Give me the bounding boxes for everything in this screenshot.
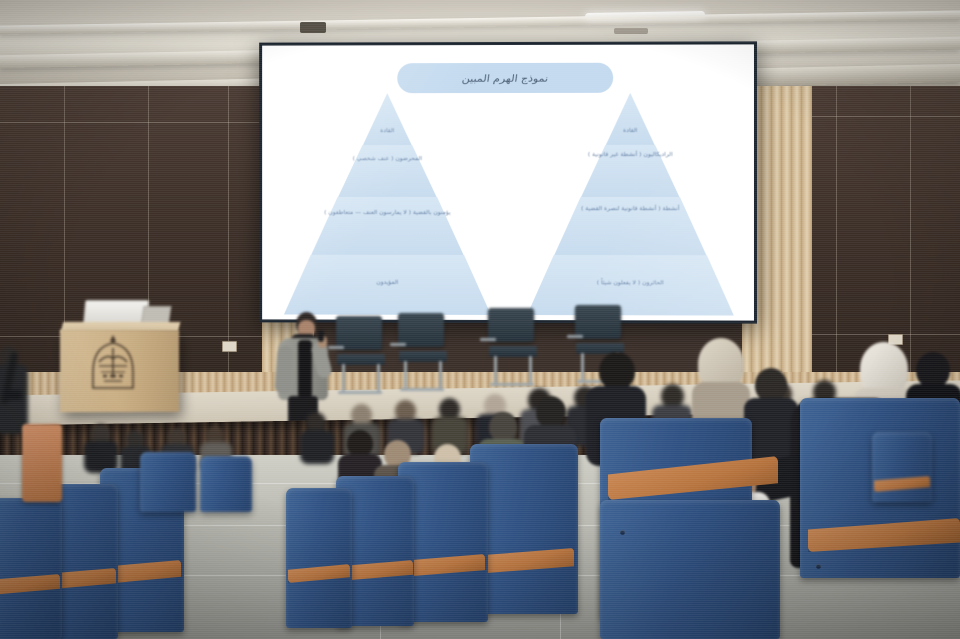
pyramid-tier xyxy=(527,197,734,256)
slide-title-pill: نموذج الهرم المبين xyxy=(397,63,613,93)
pyramid-tier xyxy=(284,145,491,198)
pyramid-tier xyxy=(527,93,734,146)
wall-socket[interactable] xyxy=(222,341,237,352)
pyramid-tier xyxy=(284,197,491,256)
slide-surface: نموذج الهرم المبين القادة المحرضون ( عنف… xyxy=(262,44,754,320)
pyramid-tier xyxy=(284,255,491,315)
pyramid-tier xyxy=(527,145,734,198)
pyramid-tier xyxy=(527,255,734,315)
university-emblem-icon xyxy=(86,332,140,394)
projection-screen: نموذج الهرم المبين القادة المحرضون ( عنف… xyxy=(259,41,757,323)
ceiling-projector-mount xyxy=(300,22,326,33)
wall-dark-panel-right xyxy=(812,86,960,386)
pyramid-tier xyxy=(284,93,491,146)
left-pyramid: القادة المحرضون ( عنف شخصي ) يؤمنون بالق… xyxy=(284,93,491,315)
ceiling-vent xyxy=(614,28,648,34)
slide-title-text: نموذج الهرم المبين xyxy=(461,72,549,84)
right-pyramid: القادة الراديكاليون ( أنشطة غير قانونية … xyxy=(527,93,734,316)
audience-member xyxy=(300,412,334,462)
microphone-icon xyxy=(318,330,324,342)
auditorium-photo: نموذج الهرم المبين القادة المحرضون ( عنف… xyxy=(0,0,960,639)
audience-member xyxy=(84,424,118,470)
